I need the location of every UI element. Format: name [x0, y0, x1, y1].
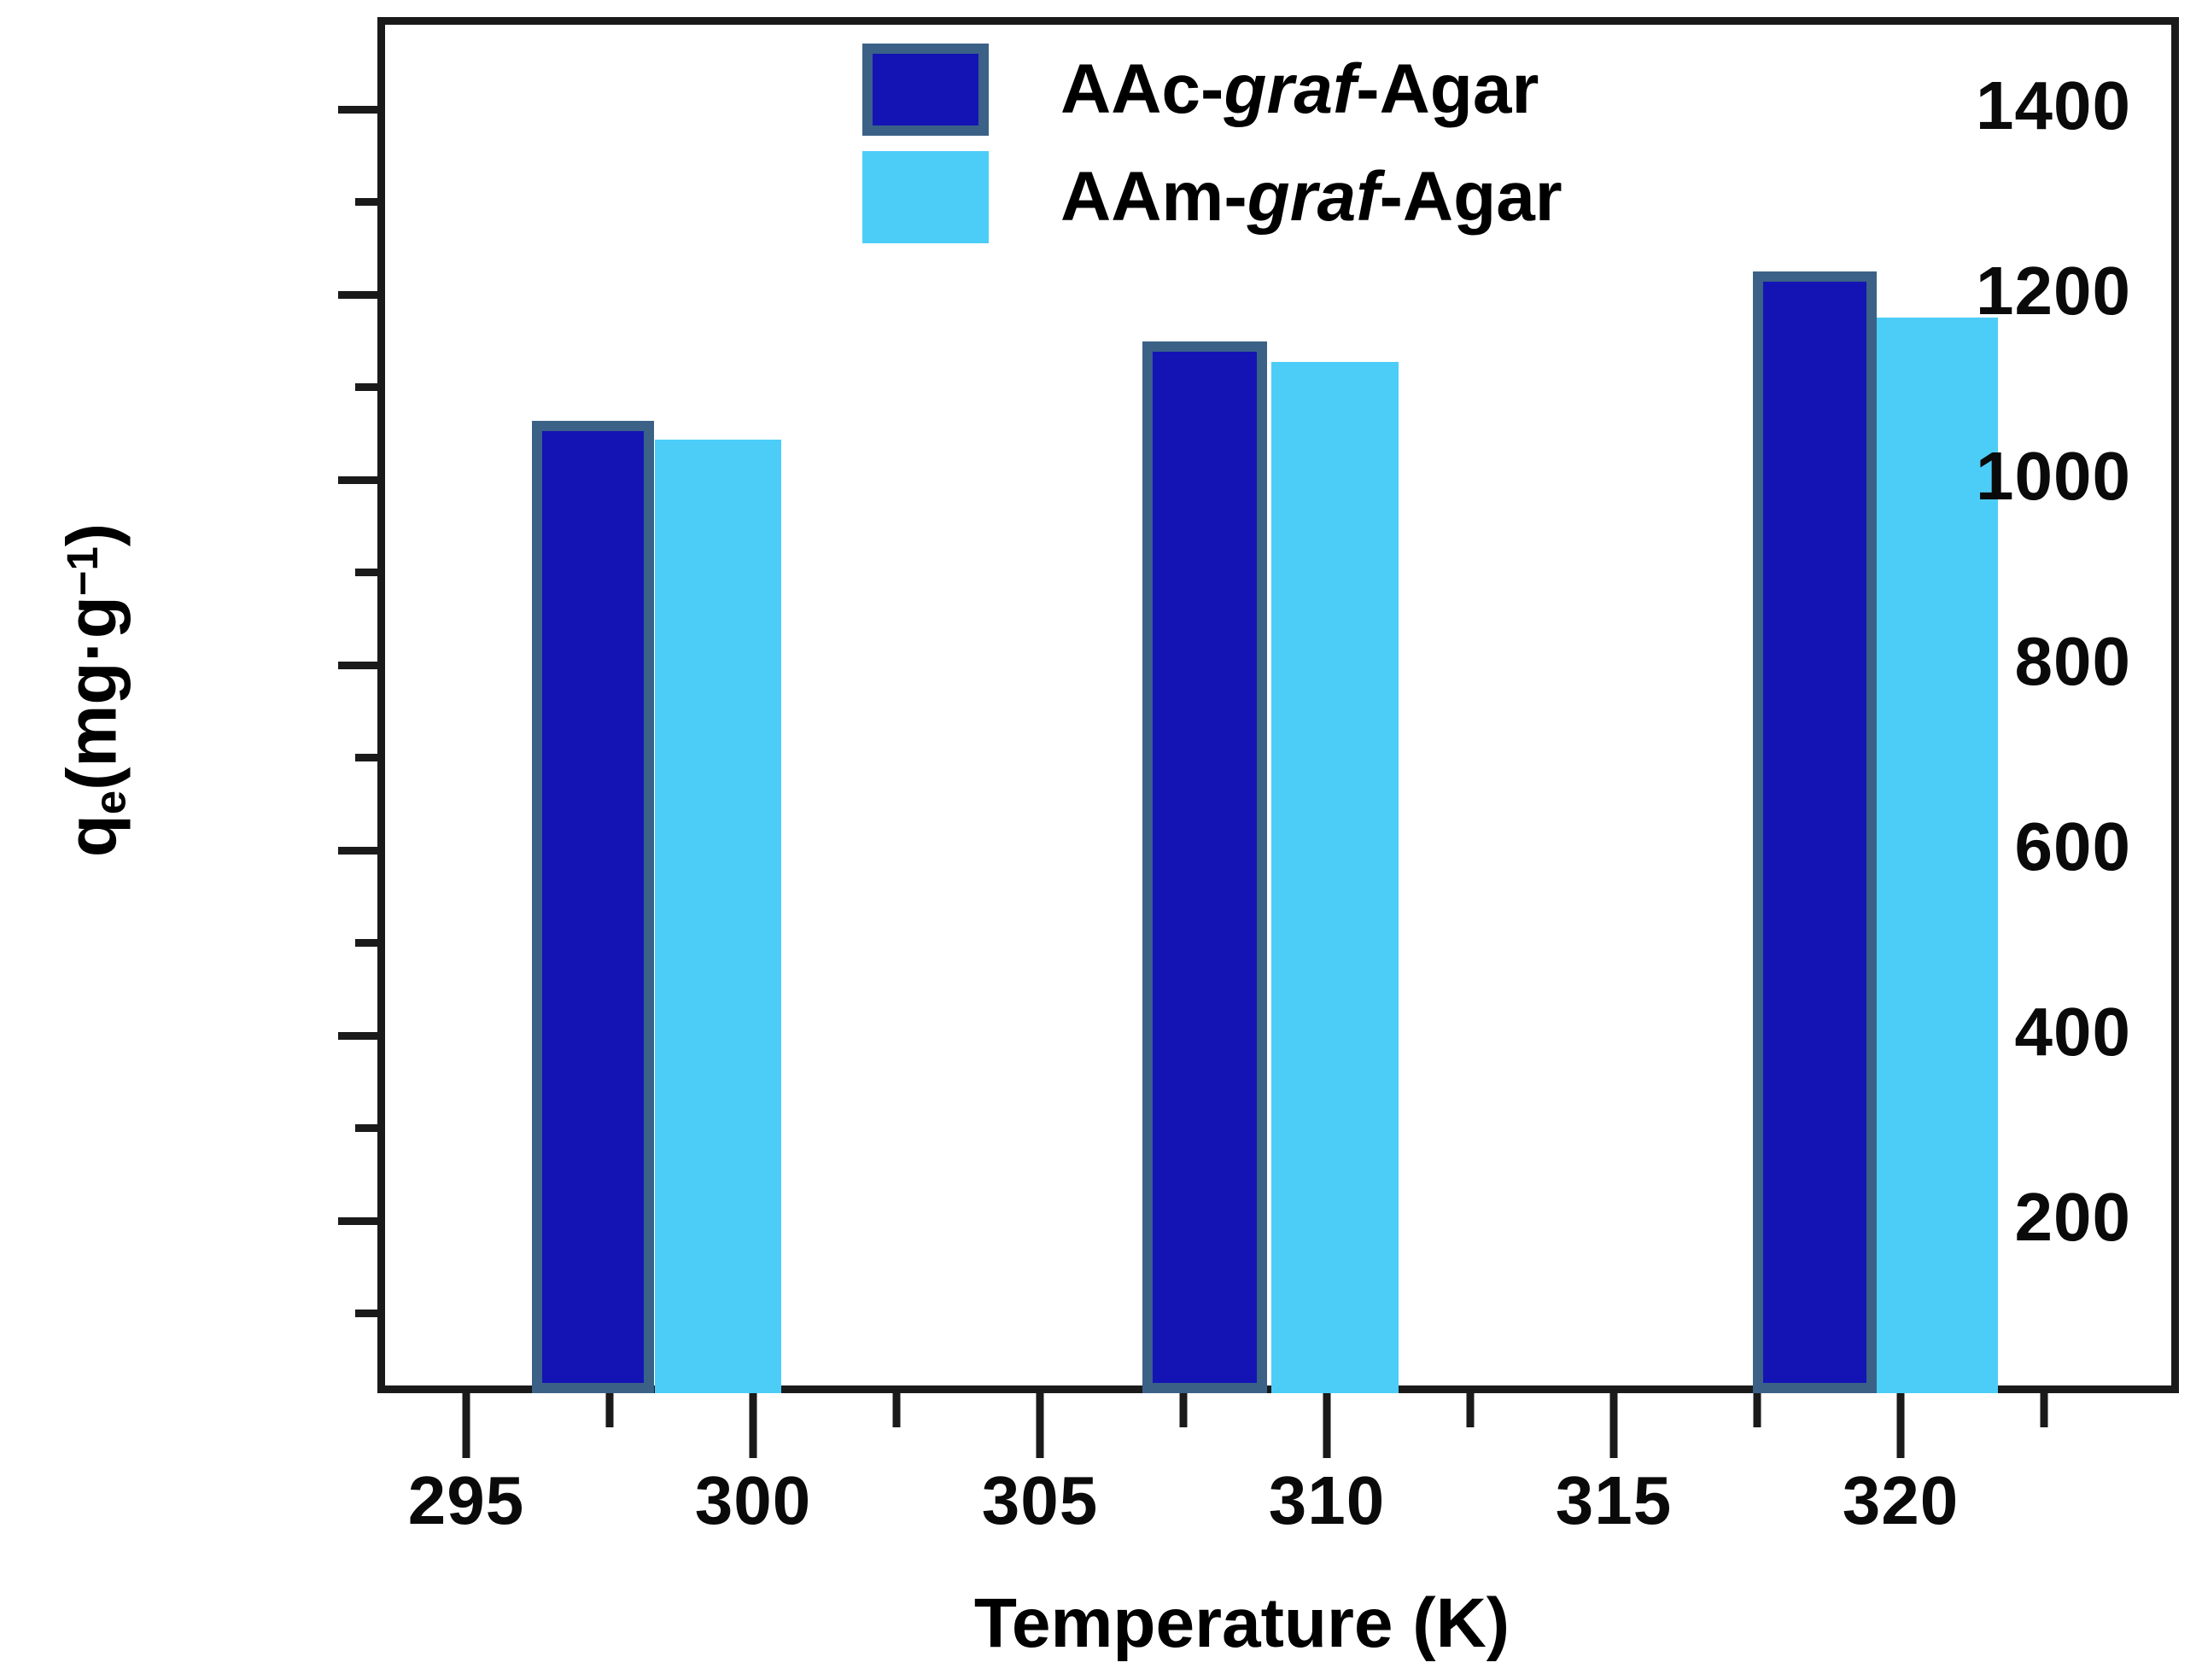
xtick-major-300 [750, 1393, 757, 1458]
ytick-label-600: 600 [2015, 808, 2131, 886]
y-axis-title-prefix: q [53, 814, 131, 857]
xtick-label-305: 305 [982, 1461, 1098, 1540]
bar-series-b-298[interactable] [655, 440, 781, 1393]
legend-label-series-a-post: -Agar [1356, 50, 1539, 128]
y-axis-title-superscript: −1 [58, 546, 107, 596]
bar-series-a-318[interactable] [1753, 271, 1877, 1393]
ytick-minor-1100 [355, 383, 377, 391]
xtick-minor-3025 [893, 1393, 901, 1427]
xtick-minor-3225 [2041, 1393, 2048, 1427]
xtick-major-295 [463, 1393, 470, 1458]
legend-swatch-series-b [862, 151, 989, 243]
ytick-major-400 [338, 1032, 377, 1040]
xtick-minor-3075 [1180, 1393, 1188, 1427]
y-axis-title-unit-close: ) [53, 523, 131, 546]
xtick-minor-3125 [1467, 1393, 1475, 1427]
bar-series-b-308[interactable] [1271, 362, 1399, 1393]
ytick-minor-900 [355, 569, 377, 576]
xtick-label-310: 310 [1269, 1461, 1385, 1540]
ytick-major-1200 [338, 291, 377, 299]
xtick-major-315 [1610, 1393, 1618, 1458]
x-axis-title: Temperature (K) [0, 1584, 2202, 1664]
ytick-label-400: 400 [2015, 993, 2131, 1071]
legend-label-series-a-pre: AAc- [1060, 50, 1224, 128]
ytick-minor-100 [355, 1310, 377, 1317]
legend-item-aam[interactable]: AAm-graf-Agar [862, 143, 1562, 251]
legend-label-series-b-pre: AAm- [1060, 158, 1247, 236]
ytick-major-1400 [338, 106, 377, 114]
y-axis-title-unit-open: (mg·g [53, 596, 131, 790]
ytick-label-1400: 1400 [1976, 67, 2131, 145]
xtick-label-295: 295 [408, 1461, 524, 1540]
legend-label-series-a: AAc-graf-Agar [1060, 50, 1539, 130]
ytick-minor-1300 [355, 198, 377, 206]
xtick-major-320 [1897, 1393, 1905, 1458]
ytick-minor-700 [355, 754, 377, 761]
xtick-label-315: 315 [1556, 1461, 1672, 1540]
legend-swatch-series-a [862, 44, 989, 136]
ytick-major-1000 [338, 476, 377, 484]
xtick-label-300: 300 [695, 1461, 811, 1540]
ytick-minor-300 [355, 1124, 377, 1132]
legend-label-series-a-italic: graf [1224, 50, 1356, 128]
ytick-major-600 [338, 847, 377, 855]
y-axis-title: qe(mg·g−1) [52, 8, 135, 1374]
chart-legend: AAc-graf-Agar AAm-graf-Agar [862, 36, 1562, 251]
legend-label-series-b-italic: graf [1247, 158, 1380, 236]
ytick-major-200 [338, 1217, 377, 1225]
ytick-major-800 [338, 662, 377, 669]
x-axis-title-text: Temperature (K) [974, 1584, 1510, 1662]
xtick-minor-2975 [606, 1393, 614, 1427]
xtick-major-310 [1323, 1393, 1331, 1458]
xtick-minor-3175 [1754, 1393, 1761, 1427]
y-axis-title-subscript: e [86, 790, 135, 814]
xtick-label-320: 320 [1843, 1461, 1959, 1540]
ytick-label-800: 800 [2015, 622, 2131, 701]
xtick-major-305 [1037, 1393, 1044, 1458]
ytick-minor-500 [355, 939, 377, 947]
bar-series-a-308[interactable] [1142, 341, 1267, 1393]
legend-label-series-b: AAm-graf-Agar [1060, 157, 1562, 237]
ytick-label-1200: 1200 [1976, 252, 2131, 330]
ytick-label-200: 200 [2015, 1178, 2131, 1257]
chart-figure: 1400 1200 1000 800 600 400 200 295 300 3… [0, 0, 2202, 1680]
bar-series-a-298[interactable] [532, 421, 654, 1393]
legend-item-aac[interactable]: AAc-graf-Agar [862, 36, 1562, 143]
legend-label-series-b-post: -Agar [1380, 158, 1562, 236]
ytick-label-1000: 1000 [1976, 437, 2131, 516]
